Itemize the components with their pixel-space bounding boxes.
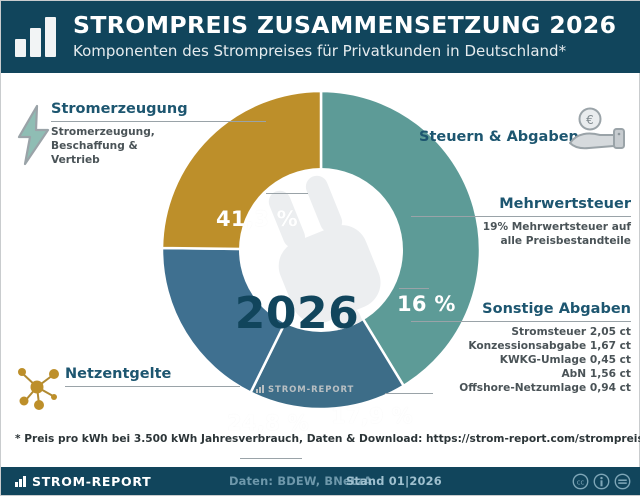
list-item: Stromsteuer 2,05 ct: [411, 325, 631, 339]
label-rule: [411, 216, 631, 217]
attribution-icon: [593, 473, 610, 490]
list-item: Konzessionsabgabe 1,67 ct: [411, 339, 631, 353]
label-steuern-caption: Steuern & Abgaben: [419, 129, 559, 146]
connector-mehrwertsteuer: [399, 288, 429, 289]
label-sonstige-caption: Sonstige Abgaben: [411, 301, 631, 318]
watermark-bar-icon: [256, 385, 265, 393]
pct-label-netzentgelte: 24,8 %: [227, 411, 309, 435]
header-banner: STROMPREIS ZUSAMMENSETZUNG 2026 Komponen…: [1, 1, 640, 73]
center-watermark: STROM-REPORT: [256, 385, 386, 395]
label-netzentgelte[interactable]: Netzentgelte: [65, 366, 240, 387]
hand-euro-coin-icon: €: [567, 107, 629, 153]
label-mehrwertsteuer[interactable]: Mehrwertsteuer 19% Mehrwertsteuer auf al…: [411, 196, 631, 248]
label-stromerzeugung-caption: Stromerzeugung: [51, 101, 266, 118]
label-rule: [51, 121, 266, 122]
svg-text:cc: cc: [577, 478, 585, 486]
center-watermark-text: STROM-REPORT: [268, 385, 354, 395]
label-sonstige-abgaben[interactable]: Sonstige Abgaben Stromsteuer 2,05 ct Kon…: [411, 301, 631, 396]
network-nodes-icon: [13, 363, 63, 411]
list-item: Offshore-Netzumlage 0,94 ct: [411, 381, 631, 395]
label-rule: [411, 321, 631, 322]
creative-commons-icon: cc: [572, 473, 589, 490]
pct-label-sonstige: 17,9 %: [331, 404, 413, 428]
page-subtitle: Komponenten des Strompreises für Privatk…: [73, 42, 616, 61]
bar-chart-icon: [15, 476, 27, 487]
center-year-label: 2026: [232, 292, 362, 336]
footer-bar: STROM-REPORT Daten: BDEW, BNetzA Stand 0…: [1, 467, 640, 495]
page-title: STROMPREIS ZUSAMMENSETZUNG 2026: [73, 13, 616, 38]
list-item: KWKG-Umlage 0,45 ct: [411, 353, 631, 367]
label-steuern-abgaben[interactable]: Steuern & Abgaben: [419, 129, 559, 146]
list-item: AbN 1,56 ct: [411, 367, 631, 381]
header-text: STROMPREIS ZUSAMMENSETZUNG 2026 Komponen…: [73, 13, 616, 61]
footnote-text: * Preis pro kWh bei 3.500 kWh Jahresverb…: [15, 433, 627, 446]
label-mehrwertsteuer-caption: Mehrwertsteuer: [411, 196, 631, 213]
label-stromerzeugung-desc: Stromerzeugung, Beschaffung & Vertrieb: [51, 125, 266, 168]
label-stromerzeugung[interactable]: Stromerzeugung Stromerzeugung, Beschaffu…: [51, 101, 266, 167]
label-mehrwertsteuer-desc: 19% Mehrwertsteuer auf alle Preisbestand…: [411, 220, 631, 248]
footer-stand: Stand 01|2026: [346, 474, 442, 488]
lightning-bolt-icon: [13, 104, 55, 166]
footer-brand-label: STROM-REPORT: [32, 474, 151, 489]
footer-license-icons: cc: [572, 473, 631, 490]
label-sonstige-items: Stromsteuer 2,05 ct Konzessionsabgabe 1,…: [411, 325, 631, 396]
connector-stromerzeugung: [266, 193, 308, 194]
connector-netzentgelte: [240, 458, 302, 459]
bar-chart-icon: [13, 15, 59, 59]
svg-text:€: €: [586, 113, 594, 127]
label-netzentgelte-caption: Netzentgelte: [65, 366, 240, 383]
pct-label-stromerzeugung: 41,3 %: [216, 207, 298, 231]
infographic-page: STROMPREIS ZUSAMMENSETZUNG 2026 Komponen…: [0, 0, 640, 496]
label-rule: [65, 386, 240, 387]
no-derivatives-icon: [614, 473, 631, 490]
footer-brand[interactable]: STROM-REPORT: [15, 474, 151, 489]
